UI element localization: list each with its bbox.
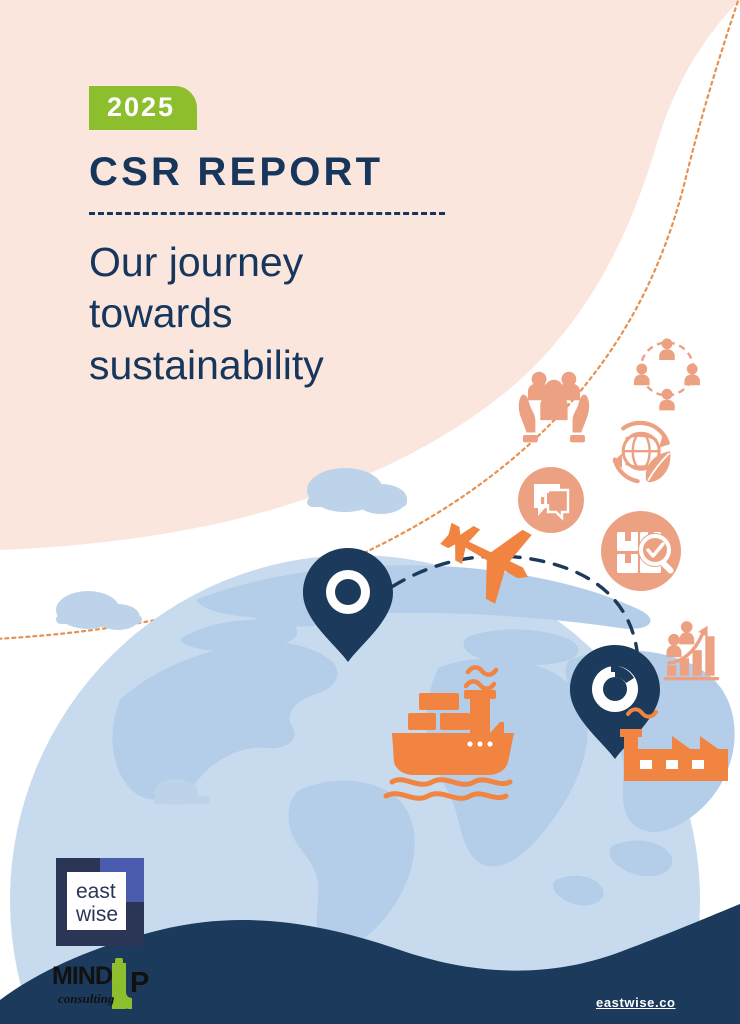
mindup-logo-word2: P bbox=[130, 967, 149, 999]
globe-leaf-icon bbox=[612, 423, 670, 483]
cover-header: 2025 CSR REPORT Our journey towards sust… bbox=[89, 86, 509, 391]
page-title: CSR REPORT bbox=[89, 152, 509, 192]
eastwise-logo-line2: wise bbox=[75, 903, 118, 926]
page-subtitle: Our journey towards sustainability bbox=[89, 237, 509, 391]
subtitle-line-2: towards bbox=[89, 288, 509, 339]
eastwise-logo: east wise bbox=[56, 858, 144, 946]
mindup-logo-word1: MIND bbox=[52, 962, 112, 990]
title-divider bbox=[89, 212, 445, 215]
cloud-icon bbox=[307, 468, 407, 514]
subtitle-line-1: Our journey bbox=[89, 237, 509, 288]
package-check-icon bbox=[601, 511, 681, 591]
people-network-icon bbox=[634, 338, 700, 410]
mindup-logo-tagline: consulting bbox=[58, 991, 115, 1006]
website-url[interactable]: eastwise.co bbox=[596, 995, 676, 1010]
mindup-logo: MIND P consulting bbox=[52, 958, 162, 1010]
eastwise-logo-line1: east bbox=[76, 880, 116, 903]
csr-report-cover: 2025 CSR REPORT Our journey towards sust… bbox=[0, 0, 740, 1024]
year-badge: 2025 bbox=[89, 86, 197, 130]
subtitle-line-3: sustainability bbox=[89, 340, 509, 391]
community-hands-icon bbox=[519, 372, 589, 443]
chat-chart-icon bbox=[518, 467, 584, 533]
cloud-icon bbox=[56, 591, 142, 630]
